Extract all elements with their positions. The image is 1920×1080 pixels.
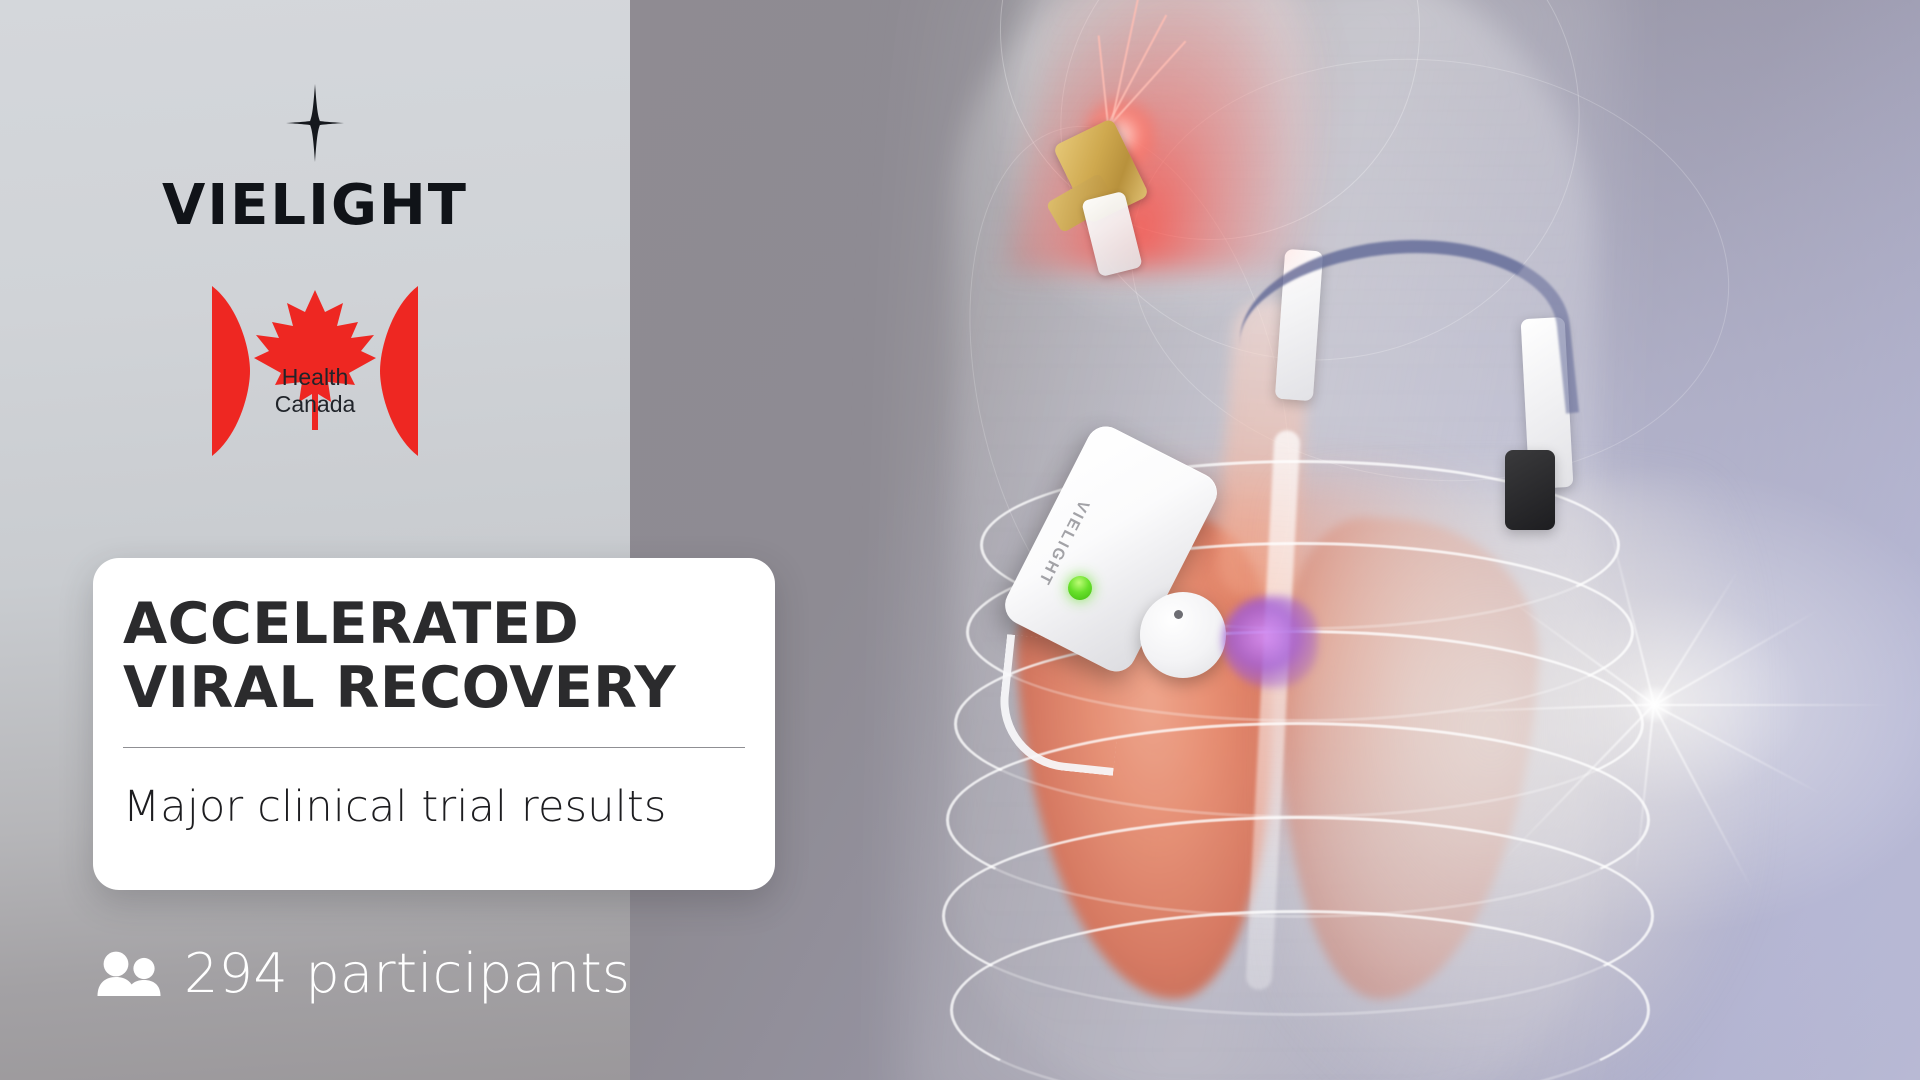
headline-subtitle: Major clinical trial results <box>123 782 745 832</box>
slide-root: VIELIGHT VIELIGHT <box>0 0 1920 1080</box>
headline-card: ACCELERATED VIRAL RECOVERY Major clinica… <box>93 558 775 890</box>
brand-wordmark: VIELIGHT <box>0 178 630 234</box>
health-canada-label: Health Canada <box>204 364 426 418</box>
headline-title: ACCELERATED VIRAL RECOVERY <box>123 592 745 721</box>
participants-stat: 294 participants <box>96 942 630 1005</box>
health-canada-line1: Health <box>204 364 426 391</box>
headline-line-1: ACCELERATED <box>123 592 745 656</box>
four-pointed-star-icon <box>286 84 344 162</box>
violet-light-patch <box>1222 596 1318 688</box>
health-canada-logo: Health Canada <box>0 272 630 470</box>
headline-line-2: VIRAL RECOVERY <box>123 656 745 720</box>
brand-logo: VIELIGHT <box>0 84 630 234</box>
participants-label: 294 participants <box>184 942 630 1005</box>
flare-ray <box>1654 704 1894 706</box>
device-emitter-disc <box>1140 592 1226 678</box>
headline-divider <box>123 747 745 748</box>
sensor-pad <box>1505 450 1555 530</box>
people-icon <box>96 951 162 997</box>
health-canada-line2: Canada <box>204 391 426 418</box>
